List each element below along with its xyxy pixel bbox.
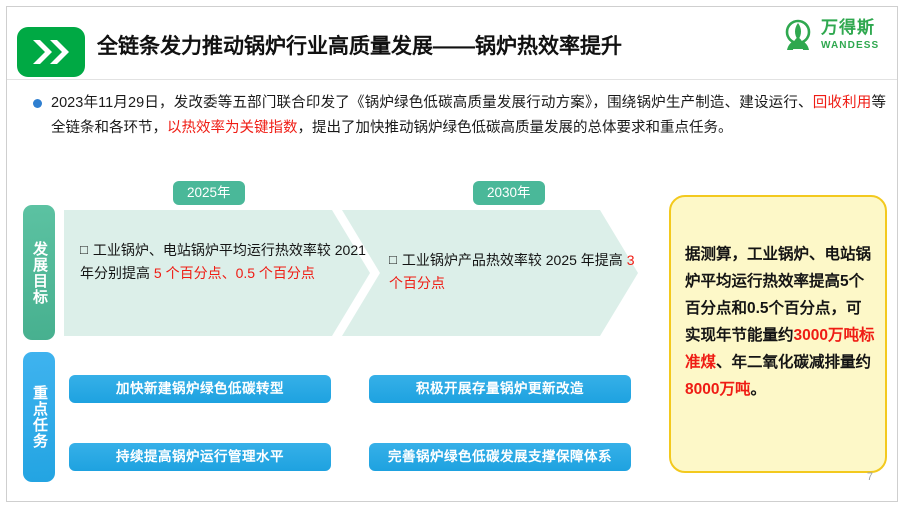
slide-canvas: 全链条发力推动锅炉行业高质量发展——锅炉热效率提升 万得斯 WANDESS 20… (6, 6, 898, 502)
square-bullet-icon: □ (80, 242, 88, 257)
rail-task-label: 重点任务 (28, 385, 50, 449)
timeline-chevron-band: □工业锅炉、电站锅炉平均运行热效率较 2021 年分别提高 5 个百分点、0.5… (64, 210, 668, 336)
logo-name-cn: 万得斯 (821, 18, 875, 38)
header-divider (7, 79, 898, 80)
intro-paragraph: 2023年11月29日，发改委等五部门联合印发了《锅炉绿色低碳高质量发展行动方案… (51, 91, 886, 141)
rail-development-goal: 发展目标 (23, 205, 55, 340)
brand-logo: 万得斯 WANDESS (783, 17, 887, 65)
year-badge-2030: 2030年 (473, 181, 545, 205)
rail-key-tasks: 重点任务 (23, 352, 55, 482)
milestone-2-text: □工业锅炉产品热效率较 2025 年提高 3 个百分点 (389, 248, 639, 295)
estimate-callout-text: 据测算，工业锅炉、电站锅炉平均运行热效率提高5个百分点和0.5个百分点，可实现年… (685, 241, 877, 403)
wandess-leaf-logo-icon (783, 19, 817, 53)
task-pill-1[interactable]: 加快新建锅炉绿色低碳转型 (69, 375, 331, 403)
slide: 全链条发力推动锅炉行业高质量发展——锅炉热效率提升 万得斯 WANDESS 20… (0, 0, 904, 512)
bullet-dot-icon (33, 99, 42, 108)
rail-goal-label: 发展目标 (28, 241, 50, 305)
square-bullet-icon: □ (389, 252, 397, 267)
task-pill-4[interactable]: 完善锅炉绿色低碳发展支撑保障体系 (369, 443, 631, 471)
page-number: 7 (867, 471, 873, 483)
year-badge-2025: 2025年 (173, 181, 245, 205)
logo-name-en: WANDESS (821, 40, 879, 52)
milestone-1-text: □工业锅炉、电站锅炉平均运行热效率较 2021 年分别提高 5 个百分点、0.5… (80, 238, 380, 285)
task-pill-2[interactable]: 积极开展存量锅炉更新改造 (369, 375, 631, 403)
page-title: 全链条发力推动锅炉行业高质量发展——锅炉热效率提升 (97, 33, 757, 61)
task-pill-3[interactable]: 持续提高锅炉运行管理水平 (69, 443, 331, 471)
double-chevron-right-icon (17, 27, 85, 77)
